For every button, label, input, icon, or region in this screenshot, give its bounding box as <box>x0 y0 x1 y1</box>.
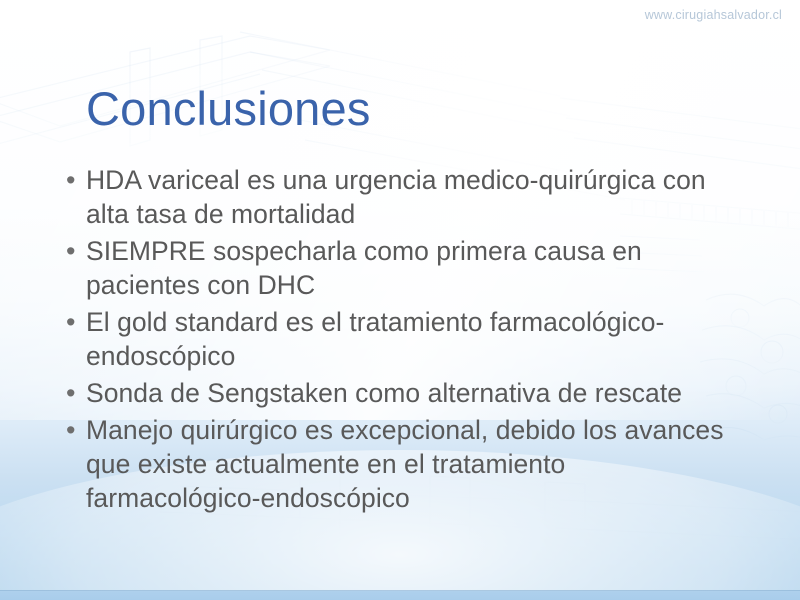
list-item: • El gold standard es el tratamiento far… <box>64 305 744 373</box>
bullet-text: Sonda de Sengstaken como alternativa de … <box>86 376 744 410</box>
bullet-text: HDA variceal es una urgencia medico-quir… <box>86 163 744 231</box>
bullet-dot-icon: • <box>64 376 86 410</box>
bullet-dot-icon: • <box>64 234 86 268</box>
list-item: • HDA variceal es una urgencia medico-qu… <box>64 163 744 231</box>
conclusions-bullet-list: • HDA variceal es una urgencia medico-qu… <box>64 163 744 518</box>
list-item: • SIEMPRE sospecharla como primera causa… <box>64 234 744 302</box>
bullet-dot-icon: • <box>64 163 86 197</box>
bullet-text: Manejo quirúrgico es excepcional, debido… <box>86 413 744 515</box>
site-url-text: www.cirugiahsalvador.cl <box>645 8 782 22</box>
bullet-text: SIEMPRE sospecharla como primera causa e… <box>86 234 744 302</box>
list-item: • Manejo quirúrgico es excepcional, debi… <box>64 413 744 515</box>
bottom-color-strip <box>0 591 800 600</box>
bullet-dot-icon: • <box>64 305 86 339</box>
presentation-slide: www.cirugiahsalvador.cl Conclusiones • H… <box>0 0 800 600</box>
list-item: • Sonda de Sengstaken como alternativa d… <box>64 376 744 410</box>
bullet-dot-icon: • <box>64 413 86 447</box>
bullet-text: El gold standard es el tratamiento farma… <box>86 305 744 373</box>
slide-title: Conclusiones <box>86 83 371 135</box>
